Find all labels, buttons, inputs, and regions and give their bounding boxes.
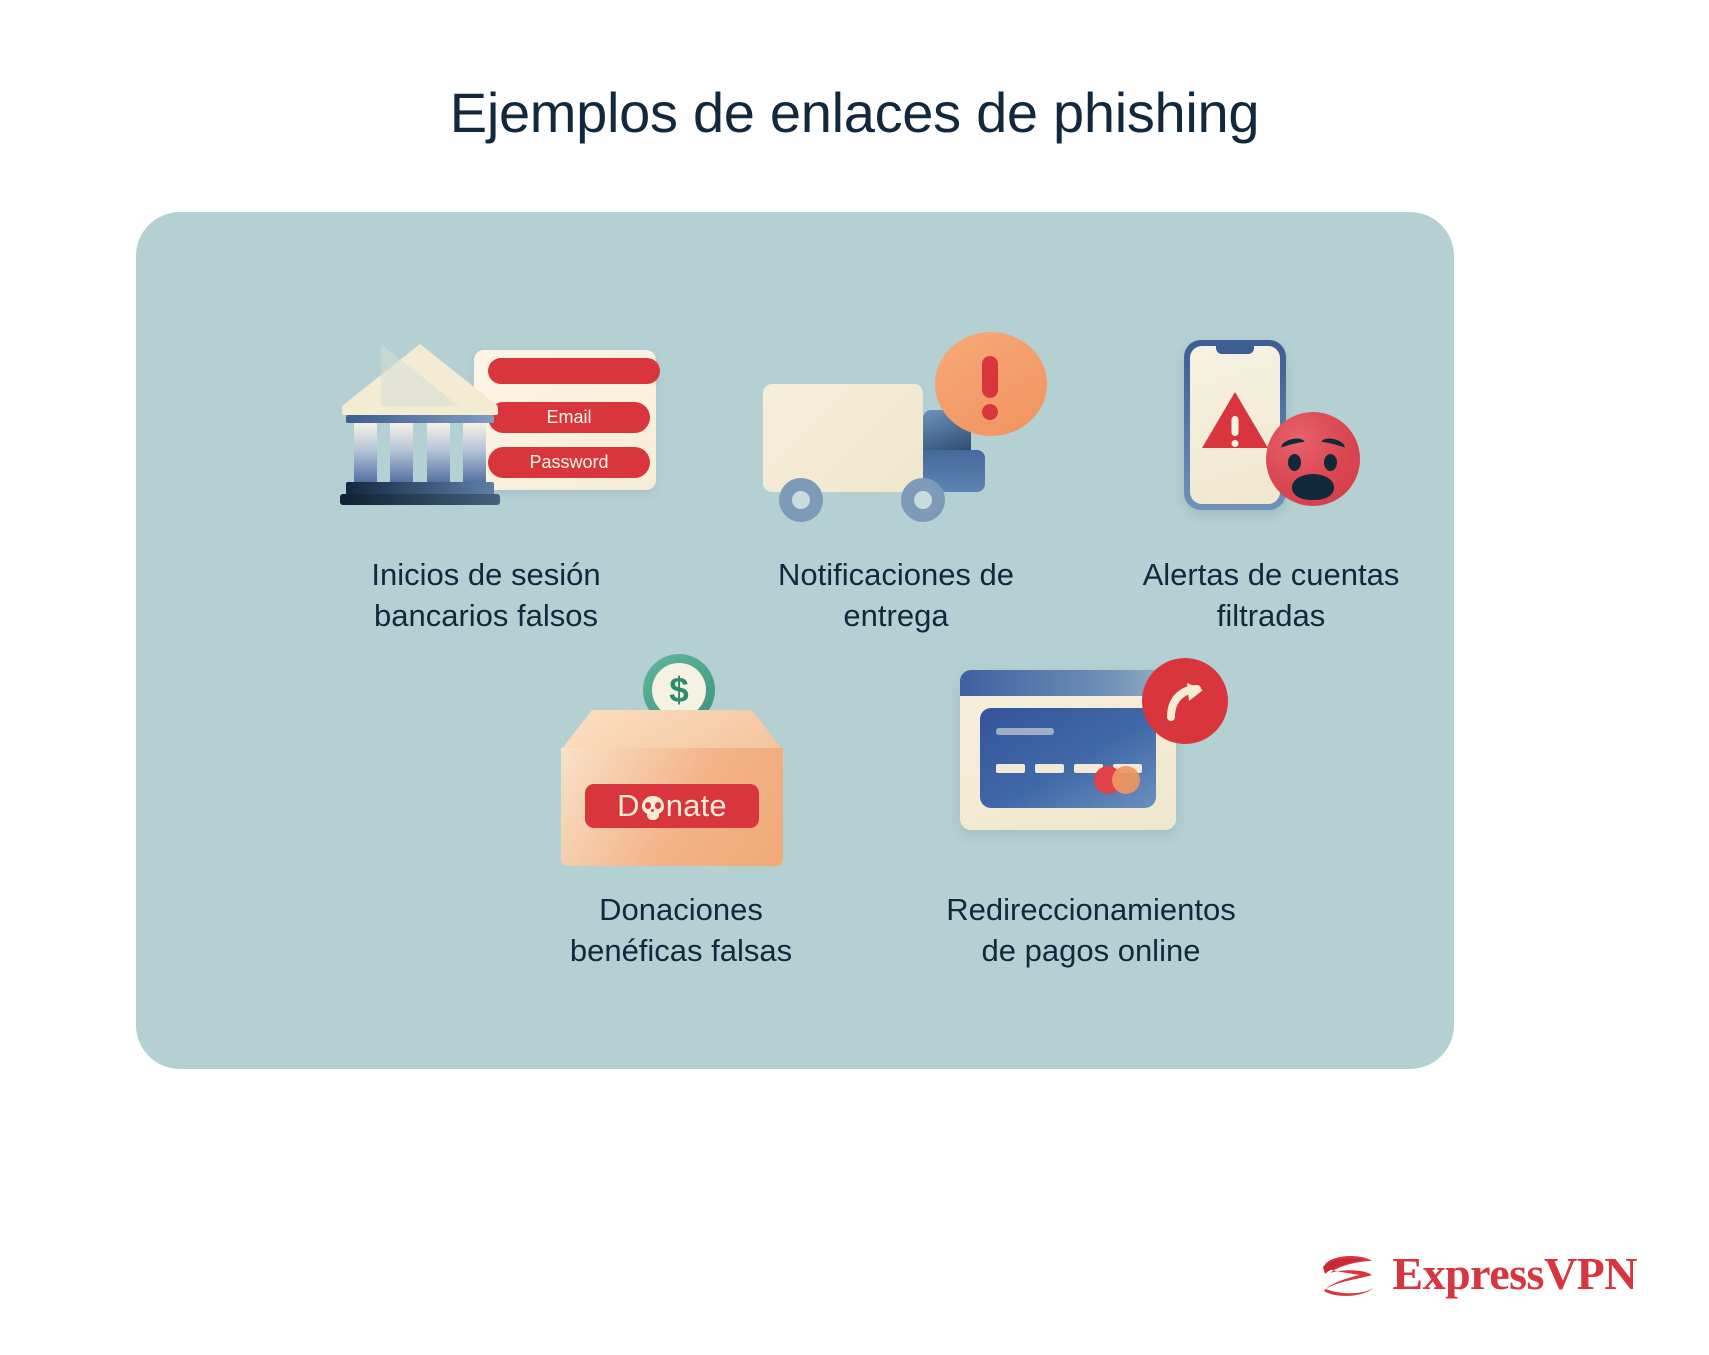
phone-notch xyxy=(1216,346,1254,354)
smartphone-icon xyxy=(1184,340,1286,510)
sad-face-emoji-icon xyxy=(1266,412,1360,506)
redirect-arrow-icon xyxy=(1142,658,1228,744)
card-fake-bank-logins: Email Password xyxy=(286,332,686,636)
truck-cargo-box xyxy=(763,384,923,492)
password-field[interactable]: Password xyxy=(488,447,650,478)
login-form-card: Email Password xyxy=(474,350,656,490)
donate-label-part2: nate xyxy=(666,788,727,824)
form-header-bar xyxy=(488,358,660,384)
exclamation-icon xyxy=(982,356,998,398)
phone-warning-sad-face-icon xyxy=(1086,332,1456,532)
card-label: Inicios de sesión bancarios falsos xyxy=(286,554,686,636)
email-field[interactable]: Email xyxy=(488,402,650,433)
card-label: Notificaciones de entrega xyxy=(706,554,1086,636)
skull-icon xyxy=(642,796,664,820)
card-fake-charity-donations: $ D nate Dona xyxy=(481,652,881,971)
card-online-payment-redirects: Redireccionamientos de pagos online xyxy=(881,652,1301,971)
donate-button[interactable]: D nate xyxy=(585,784,759,828)
card-label: Alertas de cuentas filtradas xyxy=(1086,554,1456,636)
card-label: Donaciones benéficas falsas xyxy=(481,889,881,971)
bank-login-icon: Email Password xyxy=(286,332,686,532)
content-panel: Email Password xyxy=(136,212,1454,1069)
expressvpn-wordmark: ExpressVPN xyxy=(1392,1251,1637,1297)
card-leaked-account-alerts: Alertas de cuentas filtradas xyxy=(1086,332,1456,636)
truck-wheel-rear xyxy=(901,478,945,522)
donation-box-top xyxy=(561,710,783,750)
browser-credit-card-redirect-icon xyxy=(881,652,1301,867)
infographic-page: Ejemplos de enlaces de phishing Email Pa… xyxy=(0,0,1709,1355)
credit-card-icon xyxy=(980,708,1156,808)
coin-symbol: $ xyxy=(652,663,706,717)
donation-box-skull-icon: $ D nate xyxy=(481,652,881,867)
card-network-logo-icon xyxy=(1094,766,1142,794)
expressvpn-logo: ExpressVPN xyxy=(1320,1249,1637,1299)
bank-building-icon xyxy=(340,336,500,496)
donate-label-part1: D xyxy=(617,788,640,824)
truck-wheel-front xyxy=(779,478,823,522)
page-title: Ejemplos de enlaces de phishing xyxy=(0,82,1709,144)
delivery-truck-alert-icon xyxy=(706,332,1086,532)
expressvpn-swoosh-icon xyxy=(1320,1249,1378,1299)
card-delivery-notifications: Notificaciones de entrega xyxy=(706,332,1086,636)
card-label: Redireccionamientos de pagos online xyxy=(881,889,1301,971)
exclamation-dot xyxy=(982,404,998,420)
